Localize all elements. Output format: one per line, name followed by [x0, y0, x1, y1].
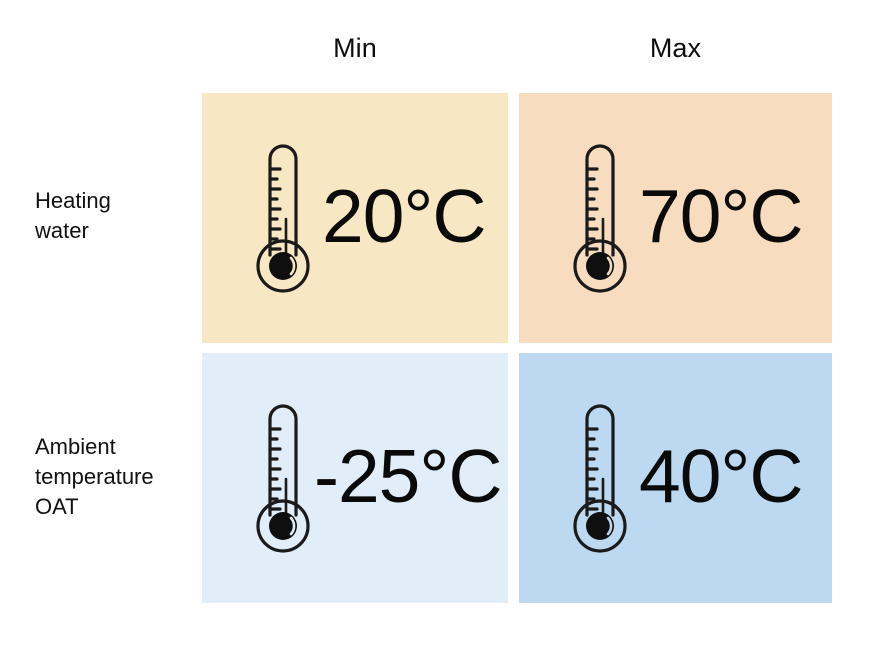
- row-label-line: water: [35, 216, 195, 246]
- thermometer-icon: [563, 133, 637, 303]
- thermometer-icon: [563, 393, 637, 563]
- row-label-line: OAT: [35, 492, 195, 522]
- column-header-min: Min: [202, 31, 508, 65]
- temperature-range-infographic: Min Max Heating water Ambient temperatur…: [0, 0, 877, 647]
- temperature-value: 70°C: [639, 179, 803, 254]
- temperature-value: 40°C: [639, 439, 803, 514]
- row-label-ambient-temperature-oat: Ambient temperature OAT: [35, 432, 195, 522]
- row-label-heating-water: Heating water: [35, 186, 195, 246]
- thermometer-icon: [246, 133, 320, 303]
- row-label-line: Ambient: [35, 432, 195, 462]
- row-label-line: temperature: [35, 462, 195, 492]
- cell-heating-water-max: 70°C: [519, 93, 832, 343]
- row-label-line: Heating: [35, 186, 195, 216]
- column-header-max: Max: [519, 31, 832, 65]
- thermometer-icon: [246, 393, 320, 563]
- temperature-value: -25°C: [314, 439, 502, 514]
- cell-heating-water-min: 20°C: [202, 93, 508, 343]
- cell-ambient-temperature-min: -25°C: [202, 353, 508, 603]
- cell-ambient-temperature-max: 40°C: [519, 353, 832, 603]
- temperature-value: 20°C: [322, 179, 486, 254]
